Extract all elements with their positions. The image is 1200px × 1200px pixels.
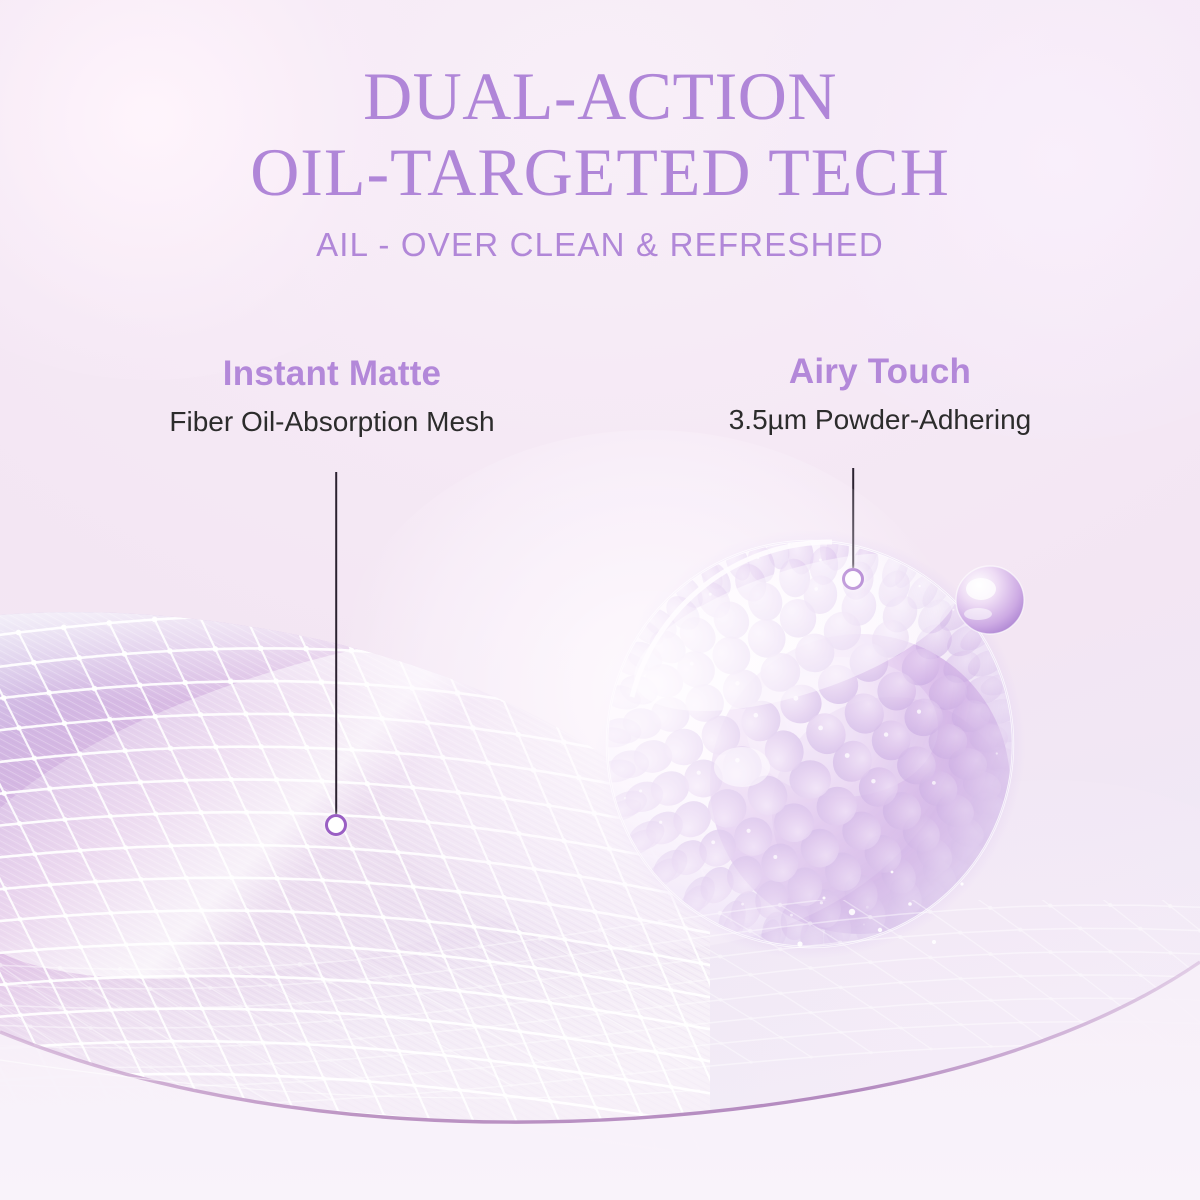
page-subtitle: AIL - OVER CLEAN & REFRESHED (0, 226, 1200, 264)
title-line-2: OIL-TARGETED TECH (0, 134, 1200, 210)
oil-droplet-icon (956, 566, 1024, 634)
feature-airy-touch: Airy Touch 3.5µm Powder-Adhering (610, 350, 1150, 440)
page-title: DUAL-ACTION OIL-TARGETED TECH (0, 58, 1200, 210)
feature-subtitle-instant-matte: Fiber Oil-Absorption Mesh (52, 402, 612, 442)
feature-instant-matte: Instant Matte Fiber Oil-Absorption Mesh (52, 352, 612, 442)
title-line-1: DUAL-ACTION (363, 58, 837, 134)
bottom-curve-accent (0, 940, 1200, 1200)
feature-title-instant-matte: Instant Matte (52, 352, 612, 396)
feature-subtitle-airy-touch: 3.5µm Powder-Adhering (610, 400, 1150, 440)
feature-title-airy-touch: Airy Touch (610, 350, 1150, 394)
poster-canvas: DUAL-ACTION OIL-TARGETED TECH AIL - OVER… (0, 0, 1200, 1200)
